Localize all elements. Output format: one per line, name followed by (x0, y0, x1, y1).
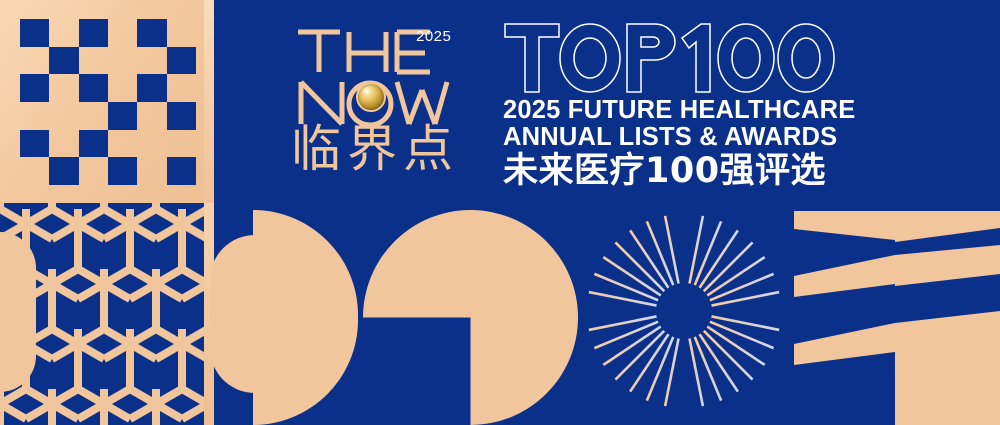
checkerboard-cell (137, 74, 166, 102)
checkerboard-cell (20, 74, 49, 102)
checkerboard-cell (167, 19, 196, 47)
checkerboard-cell (79, 19, 108, 47)
checkerboard-cell (49, 74, 78, 102)
checkerboard-cell (167, 47, 196, 75)
headline-block: 2025 FUTURE HEALTHCARE ANNUAL LISTS & AW… (503, 18, 843, 191)
diagonal-stripes-shape (790, 200, 1000, 425)
checkerboard-cell (167, 74, 196, 102)
checkerboard-cell (137, 102, 166, 130)
checkerboard-cell (49, 102, 78, 130)
checkerboard-cell (79, 130, 108, 158)
left-semicircle-shape (210, 235, 255, 393)
sunburst-ray (704, 331, 753, 380)
checkerboard-cell (49, 47, 78, 75)
checkerboard-cell (20, 102, 49, 130)
checkerboard-cell (20, 47, 49, 75)
logo-year: 2025 (416, 28, 451, 45)
small-semicircle-shape (0, 232, 36, 392)
checkerboard-cell (167, 130, 196, 158)
logo-chinese-name: 临界点 (291, 123, 459, 175)
checkerboard-cell (79, 102, 108, 130)
checkerboard-cell (49, 19, 78, 47)
headline-en-line-2: ANNUAL LISTS & AWARDS (503, 125, 843, 150)
checkerboard-cell (167, 102, 196, 130)
checkerboard-cell (137, 130, 166, 158)
checkerboard-cell (108, 19, 137, 47)
checkerboard-cell (137, 157, 166, 185)
checkerboard-pattern (0, 0, 214, 203)
headline-en-line-1: 2025 FUTURE HEALTHCARE (503, 98, 843, 123)
checkerboard-cell (108, 47, 137, 75)
checkerboard-cell (137, 47, 166, 75)
checkerboard-cell (20, 157, 49, 185)
checkerboard-cell (49, 130, 78, 158)
notched-circle-shape (363, 210, 578, 425)
checkerboard-cell (108, 157, 137, 185)
checkerboard-grid (20, 19, 196, 185)
checkerboard-edge-band (204, 0, 214, 203)
checkerboard-cell (108, 130, 137, 158)
checkerboard-cell (137, 19, 166, 47)
checkerboard-cell (20, 130, 49, 158)
checkerboard-cell (79, 47, 108, 75)
checkerboard-cell (20, 19, 49, 47)
checkerboard-cell (79, 74, 108, 102)
checkerboard-cell (79, 157, 108, 185)
sunburst-ray (704, 242, 753, 291)
top100-wordmark (503, 18, 843, 96)
sunburst-ray (615, 242, 664, 291)
gold-sphere-icon (356, 82, 386, 112)
checkerboard-cell (108, 74, 137, 102)
headline-cn-line: 未来医疗100强评选 (503, 151, 843, 191)
banner-root: 2025 临界点 (0, 0, 1000, 425)
large-semicircle-shape (253, 210, 358, 425)
checkerboard-cell (49, 157, 78, 185)
checkerboard-cell (108, 102, 137, 130)
sunburst-shape (585, 212, 783, 410)
checkerboard-cell (167, 157, 196, 185)
sunburst-ray (615, 331, 664, 380)
